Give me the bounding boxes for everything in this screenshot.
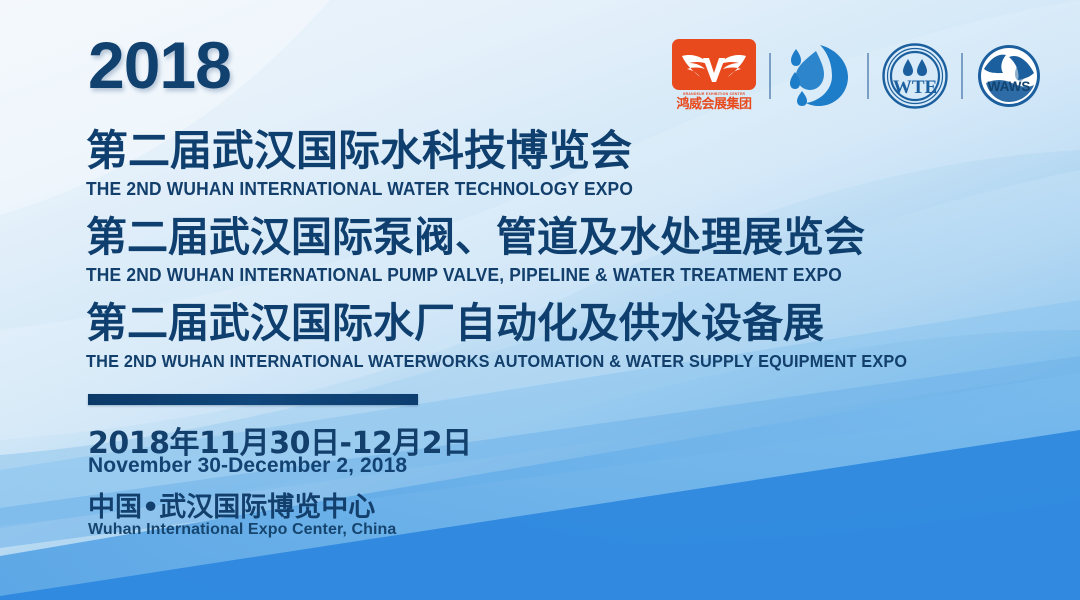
expo-title-3: 第二届武汉国际水厂自动化及供水设备展 THE 2ND WUHAN INTERNA… (86, 298, 969, 372)
event-poster: GRANDEUR EXHIBITION CENTER 鸿威会展集团 WTE (0, 0, 1080, 600)
expo-title-1: 第二届武汉国际水科技博览会 THE 2ND WUHAN INTERNATIONA… (86, 126, 668, 200)
event-venue-english: Wuhan International Expo Center, China (88, 521, 396, 539)
section-divider-bar (88, 394, 418, 405)
expo-title-2: 第二届武汉国际泵阀、管道及水处理展览会 THE 2ND WUHAN INTERN… (86, 212, 890, 286)
svg-text:WTE: WTE (893, 77, 937, 98)
logo-separator (867, 53, 869, 99)
grandeur-exhibition-group-logo: GRANDEUR EXHIBITION CENTER 鸿威会展集团 (672, 39, 756, 113)
water-drop-circle-logo (784, 41, 854, 111)
wte-logo: WTE (882, 43, 948, 109)
expo-title-2-chinese: 第二届武汉国际泵阀、管道及水处理展览会 (86, 212, 890, 262)
logo-separator (769, 53, 771, 99)
event-date-english: November 30-December 2, 2018 (88, 454, 407, 478)
expo-title-2-english: THE 2ND WUHAN INTERNATIONAL PUMP VALVE, … (86, 264, 842, 286)
year-heading: 2018 (88, 32, 231, 98)
grandeur-logo-mark (672, 39, 756, 90)
partner-logo-row: GRANDEUR EXHIBITION CENTER 鸿威会展集团 WTE (672, 36, 1042, 116)
grandeur-logo-chinese-caption: 鸿威会展集团 (676, 97, 751, 110)
expo-title-3-english: THE 2ND WUHAN INTERNATIONAL WATERWORKS A… (86, 350, 907, 372)
svg-text:WAWS: WAWS (988, 79, 1031, 94)
expo-title-1-english: THE 2ND WUHAN INTERNATIONAL WATER TECHNO… (86, 178, 633, 200)
w-wings-icon (679, 46, 749, 84)
logo-separator (961, 53, 963, 99)
expo-title-3-chinese: 第二届武汉国际水厂自动化及供水设备展 (86, 298, 969, 348)
waws-logo: WAWS (976, 43, 1042, 109)
expo-title-1-chinese: 第二届武汉国际水科技博览会 (86, 126, 668, 176)
event-venue-chinese: 中国•武汉国际博览中心 (88, 485, 375, 524)
